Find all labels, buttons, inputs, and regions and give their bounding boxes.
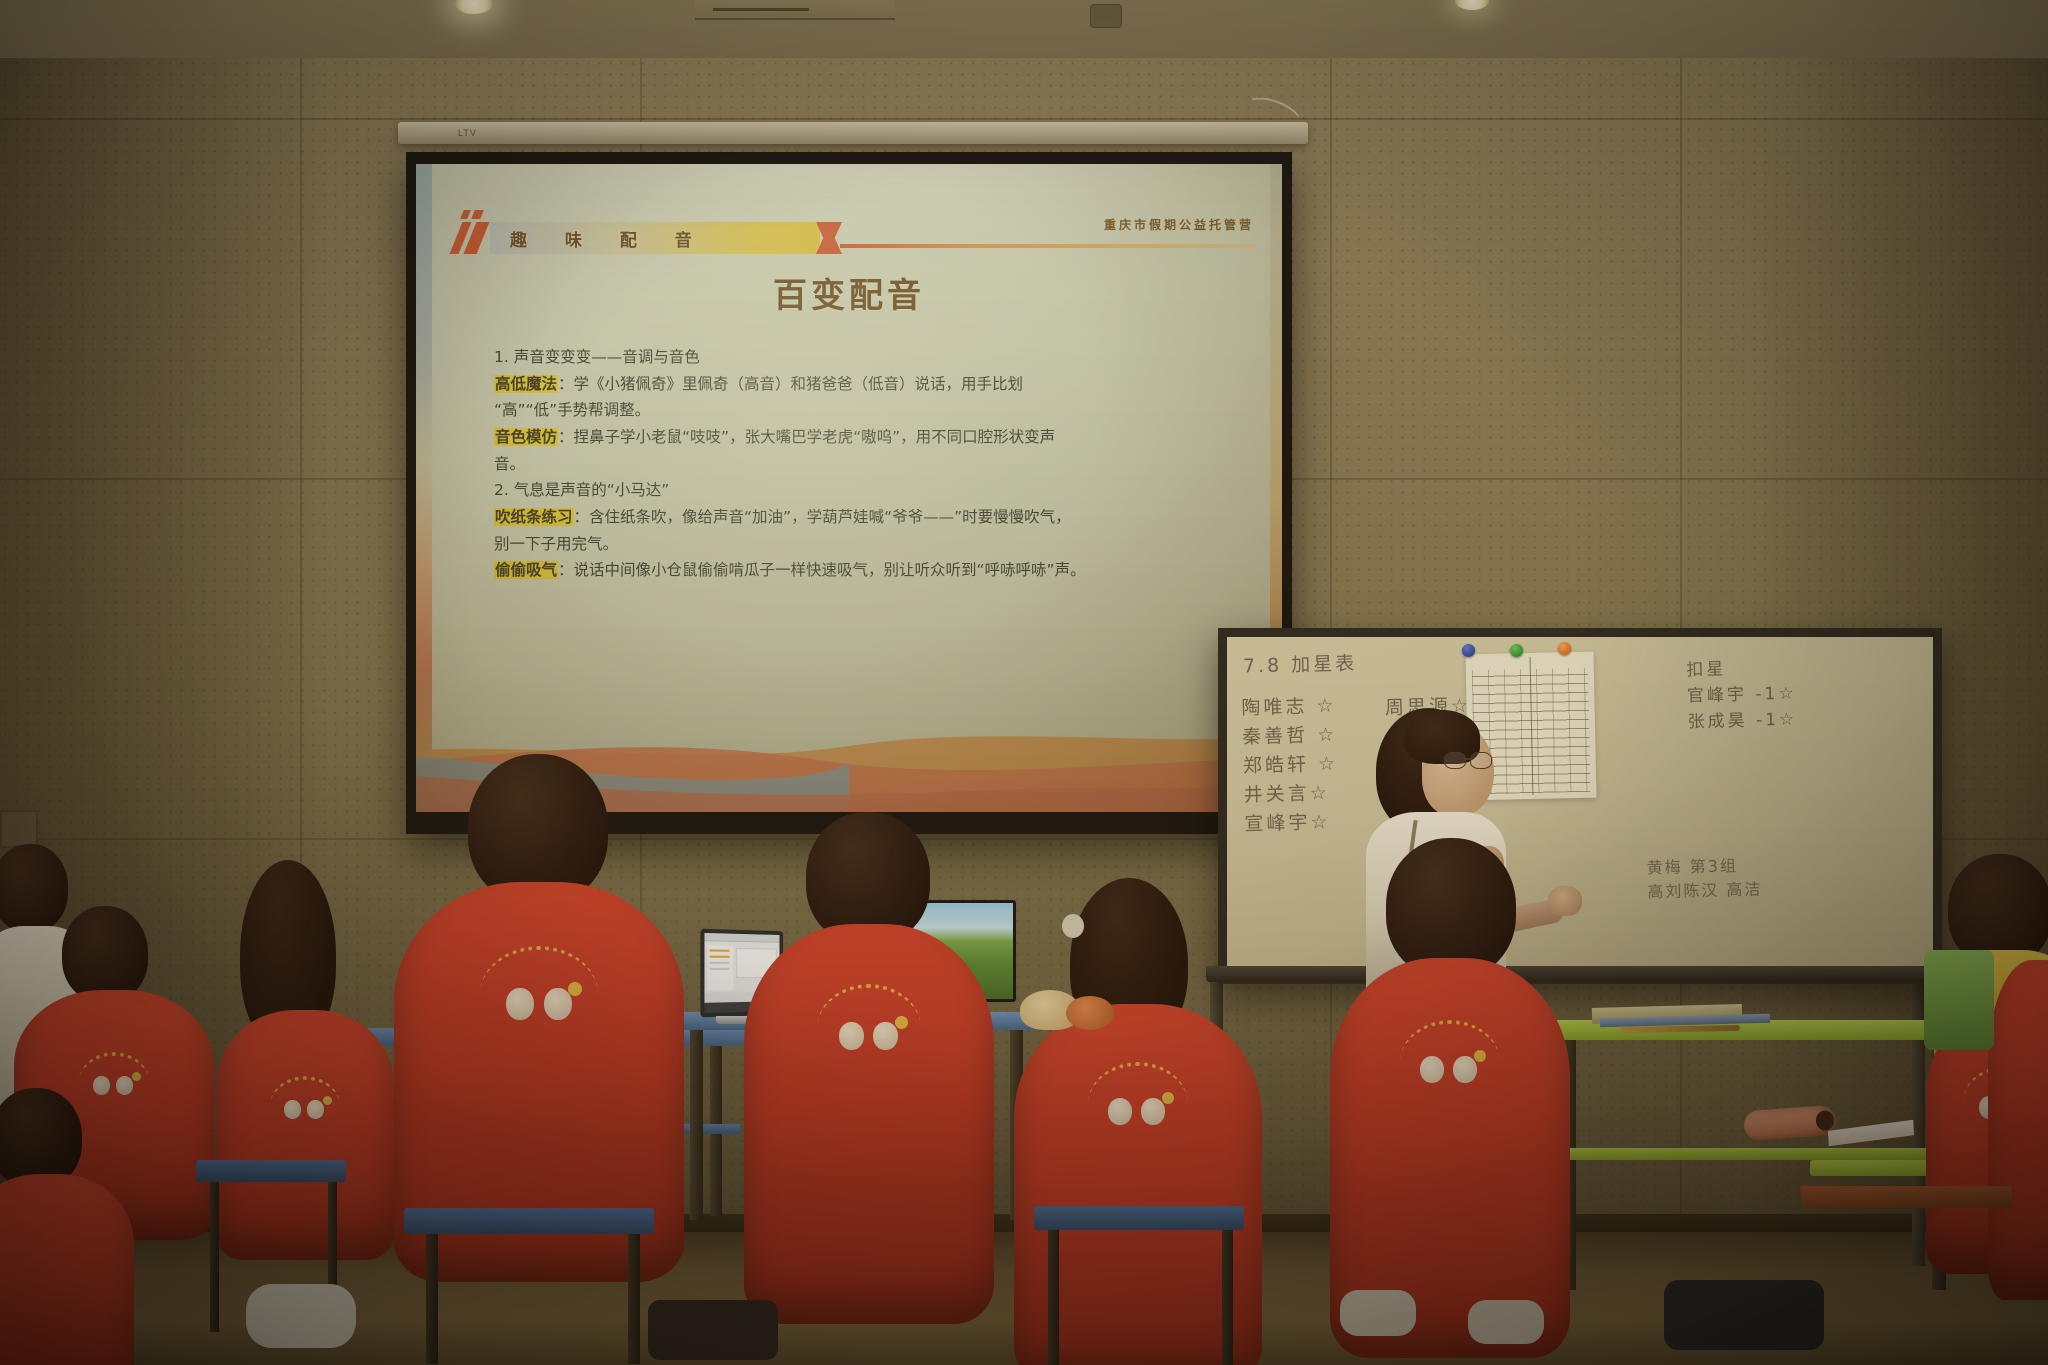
vest-logo <box>480 946 598 1032</box>
shoe <box>1468 1300 1544 1344</box>
orange-magnet-icon[interactable] <box>1558 642 1571 655</box>
slide-body-line: 高低魔法：学《小猪佩奇》里佩奇（高音）和猪爸爸（低音）说话，用手比划 <box>494 371 1230 398</box>
ceiling-speaker-icon <box>1090 4 1122 28</box>
slide-highlighted-term: 吹纸条练习 <box>494 508 574 526</box>
slide-text-run: ：含住纸条吹，像给声音“加油”，学葫芦娃喊“爷爷——”时要慢慢吹气， <box>574 508 1071 526</box>
student <box>212 860 392 1280</box>
presentation-slide: 趣 味 配 音 重庆市假期公益托管营 百变配音 1. 声音变变变——音调与音色高… <box>416 164 1282 812</box>
slide-body-line: 别一下子用完气。 <box>494 531 1230 558</box>
slide-text-run: 2. 气息是声音的“小马达” <box>494 481 669 499</box>
slide-title: 百变配音 <box>416 268 1282 317</box>
slide-header-subtitle: 重庆市假期公益托管营 <box>1104 216 1254 233</box>
green-bag <box>1924 950 1994 1050</box>
stool-seat <box>1802 1186 2012 1208</box>
ceiling-downlight-icon <box>455 0 493 14</box>
slide-text-run: 别一下子用完气。 <box>494 535 618 553</box>
toy <box>1066 996 1114 1030</box>
blue-magnet-icon[interactable] <box>1462 644 1475 657</box>
slide-highlighted-term: 音色模仿 <box>494 428 558 446</box>
student <box>1330 838 1580 1365</box>
slide-text-run: ：捏鼻子学小老鼠“吱吱”，张大嘴巴学老虎“嗷呜”，用不同口腔形状变声 <box>558 428 1055 446</box>
slide-body-line: 吹纸条练习：含住纸条吹，像给声音“加油”，学葫芦娃喊“爷爷——”时要慢慢吹气， <box>494 504 1230 531</box>
ceiling <box>0 0 2048 62</box>
projector-screen-housing: LTV <box>398 122 1308 144</box>
slide-header: 趣 味 配 音 重庆市假期公益托管营 <box>452 208 1256 254</box>
whiteboard-deduction-notes: 扣星 官峰宇 -1☆ 张成昊 -1☆ <box>1686 656 1798 736</box>
ceiling-vent <box>695 0 895 20</box>
slide-text-run: ：学《小猪佩奇》里佩奇（高音）和猪爸爸（低音）说话，用手比划 <box>558 375 1023 393</box>
glasses-icon <box>1444 752 1492 768</box>
stool-seat <box>196 1160 346 1182</box>
student <box>744 812 1004 1332</box>
ceiling-downlight-icon <box>1455 0 1489 10</box>
vest-logo <box>270 1076 340 1128</box>
student <box>1988 900 2048 1320</box>
slide-text-run: 1. 声音变变变——音调与音色 <box>494 348 700 366</box>
slide-body-text: 1. 声音变变变——音调与音色高低魔法：学《小猪佩奇》里佩奇（高音）和猪爸爸（低… <box>494 344 1230 584</box>
rolled-paper-tube <box>1743 1105 1837 1141</box>
slide-text-run: ：说话中间像小仓鼠偷偷啃瓜子一样快速吸气，别让听众听到“呼哧呼哧”声。 <box>558 561 1086 579</box>
shoe <box>246 1284 356 1348</box>
vest-logo <box>1400 1020 1500 1094</box>
hair-tie <box>1062 914 1084 938</box>
projection-screen: 趣 味 配 音 重庆市假期公益托管营 百变配音 1. 声音变变变——音调与音色高… <box>406 152 1292 834</box>
slide-body-line: 音色模仿：捏鼻子学小老鼠“吱吱”，张大嘴巴学老虎“嗷呜”，用不同口腔形状变声 <box>494 424 1230 451</box>
slide-body-line: 1. 声音变变变——音调与音色 <box>494 344 1230 371</box>
student <box>0 1088 130 1365</box>
stool-seat <box>1034 1206 1244 1230</box>
vest-logo <box>817 984 921 1062</box>
whiteboard-heading: 7.8 加星表 <box>1243 650 1358 682</box>
stool-seat <box>404 1208 654 1234</box>
vest-logo <box>1088 1062 1188 1136</box>
whiteboard-name-list: 陶唯志 ☆ 秦善哲 ☆ 郑皓轩 ☆ 井关言☆ 宣峰宇☆ <box>1241 692 1340 839</box>
green-magnet-icon[interactable] <box>1510 644 1523 657</box>
bag <box>648 1300 778 1360</box>
slide-header-brand: 趣 味 配 音 <box>510 226 708 251</box>
whiteboard[interactable]: 7.8 加星表 陶唯志 ☆ 秦善哲 ☆ 郑皓轩 ☆ 井关言☆ 宣峰宇☆ 周思源☆… <box>1218 628 1942 984</box>
slide-text-run: “高”“低”手势帮调整。 <box>494 401 650 419</box>
wall-outlet-plate <box>0 810 38 848</box>
header-rule <box>840 244 1256 248</box>
classroom-photo: LTV 趣 味 配 音 重庆市假期公益托管营 百变配音 1. 声音变变变— <box>0 0 2048 1365</box>
slide-body-line: 偷偷吸气：说话中间像小仓鼠偷偷啃瓜子一样快速吸气，别让听众听到“呼哧呼哧”声。 <box>494 557 1230 584</box>
slide-body-line: “高”“低”手势帮调整。 <box>494 397 1230 424</box>
whiteboard-signature-notes: 黄梅 第3组 高刘陈汉 高洁 <box>1646 854 1762 906</box>
slide-highlighted-term: 高低魔法 <box>494 375 558 393</box>
slide-body-line: 音。 <box>494 451 1230 478</box>
backpack <box>1664 1280 1824 1350</box>
housing-label: LTV <box>458 128 477 138</box>
slide-body-line: 2. 气息是声音的“小马达” <box>494 477 1230 504</box>
quote-slash-icon <box>452 208 494 254</box>
slide-text-run: 音。 <box>494 455 525 473</box>
shoe <box>1340 1290 1416 1336</box>
slide-highlighted-term: 偷偷吸气 <box>494 561 558 579</box>
